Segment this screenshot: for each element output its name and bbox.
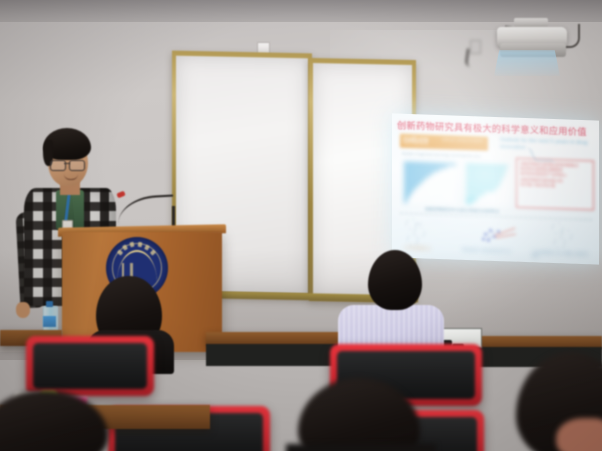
projector-ceiling-mount bbox=[514, 18, 548, 27]
bar bbox=[466, 192, 485, 195]
lecture-hall-photograph: 创新药物研究具有极大的科学意义和应用价值 nature REVIEWS DRUG… bbox=[0, 0, 602, 451]
bar bbox=[404, 201, 407, 203]
projector-light-beam bbox=[494, 50, 560, 76]
projection-screen: 创新药物研究具有极大的科学意义和应用价值 nature REVIEWS DRUG… bbox=[392, 113, 599, 264]
desk-under-center bbox=[206, 344, 342, 366]
nature-journal-banner: nature REVIEWS DRUG DISCOVERY bbox=[400, 134, 488, 151]
attendee-center-head bbox=[368, 250, 422, 310]
attendee-bottom-left-head bbox=[0, 390, 108, 451]
attendee-bottom-right-ear bbox=[556, 418, 602, 451]
bar bbox=[404, 189, 414, 191]
presenter-glasses-right-lens bbox=[69, 160, 85, 171]
bar bbox=[466, 180, 501, 184]
bar bbox=[466, 199, 476, 201]
bar bbox=[404, 198, 408, 200]
presenter-glasses-left-lens bbox=[50, 160, 66, 171]
bar bbox=[466, 188, 495, 191]
bar bbox=[466, 202, 472, 204]
slide-annotation-box: 创新药物研究是国际竞争的制高点 新药研究是国家战略需求 新药研发是医药产业的核心… bbox=[516, 158, 594, 211]
annotation-line: 科学意义和应用价值 bbox=[520, 182, 590, 190]
chair-left[interactable] bbox=[26, 336, 154, 396]
emblem-characters bbox=[114, 242, 160, 264]
bar-chart-right bbox=[466, 163, 510, 207]
water-bottle-label bbox=[43, 316, 56, 327]
bar bbox=[466, 184, 499, 188]
presenter-glasses-bridge bbox=[64, 163, 70, 164]
bar bbox=[404, 192, 412, 194]
bar-chart-left bbox=[404, 161, 456, 205]
bar bbox=[466, 176, 503, 180]
bar bbox=[404, 195, 410, 197]
drug-discovery-text: DRUG DISCOVERY bbox=[442, 137, 484, 143]
bar bbox=[466, 172, 505, 176]
attendee-bottom-center-shoulders bbox=[286, 444, 436, 451]
chair-left-back-pad bbox=[33, 343, 147, 389]
presenter-hand bbox=[16, 302, 30, 318]
protein-binding-diagram bbox=[476, 220, 520, 250]
water-bottle-cap bbox=[46, 301, 53, 307]
nature-reviews-text: REVIEWS bbox=[403, 141, 428, 148]
